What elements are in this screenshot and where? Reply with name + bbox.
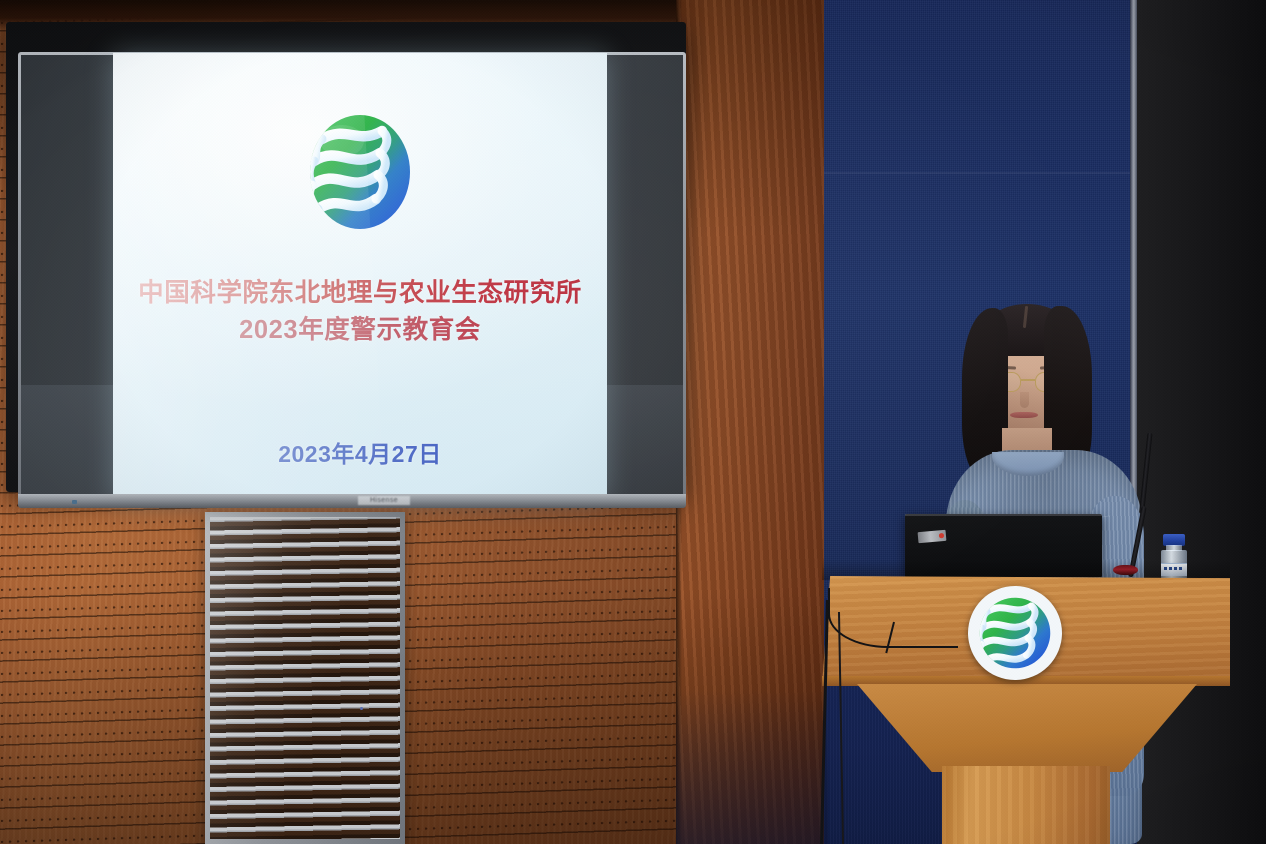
presentation-slide: 中国科学院东北地理与农业生态研究所 2023年度警示教育会 2023年4月27日 xyxy=(113,53,607,501)
vent-screw xyxy=(360,707,363,710)
nose xyxy=(1020,392,1029,408)
thinkpad-logo-badge xyxy=(918,530,947,543)
institute-globe-logo xyxy=(296,105,424,239)
slide-subtitle: 2023年度警示教育会 xyxy=(113,311,607,349)
lectern-institute-emblem xyxy=(968,586,1062,680)
slide-date: 2023年4月27日 xyxy=(113,435,607,469)
wall-mounted-display[interactable]: 中国科学院东北地理与农业生态研究所 2023年度警示教育会 2023年4月27日… xyxy=(6,22,686,492)
slide-heading-block: 中国科学院东北地理与农业生态研究所 2023年度警示教育会 xyxy=(113,275,607,349)
thinkpad-laptop[interactable] xyxy=(905,514,1102,577)
vent-reflection xyxy=(210,517,400,839)
vent-louvers xyxy=(210,517,400,839)
display-brand-logo: Hisense xyxy=(358,496,410,505)
laptop-lid-edge xyxy=(905,514,1102,516)
lectern-pedestal xyxy=(942,766,1110,844)
display-bottom-bar xyxy=(18,494,686,508)
bottle-label xyxy=(1161,563,1187,576)
panel-seam-line xyxy=(824,172,1134,174)
mouth xyxy=(1010,412,1038,418)
pedestal-wood-grain xyxy=(942,766,1110,844)
conference-room-photo: 中国科学院东北地理与农业生态研究所 2023年度警示教育会 2023年4月27日… xyxy=(0,0,1266,844)
floor-shadow xyxy=(676,690,828,844)
microphone-base-ring xyxy=(1113,565,1138,575)
glasses-bridge xyxy=(1021,379,1035,381)
slide-title: 中国科学院东北地理与农业生态研究所 xyxy=(113,275,607,311)
podium-cable-loop xyxy=(828,588,958,648)
louvered-air-vent xyxy=(205,512,405,844)
water-bottle xyxy=(1158,534,1190,580)
display-power-led xyxy=(72,500,77,504)
